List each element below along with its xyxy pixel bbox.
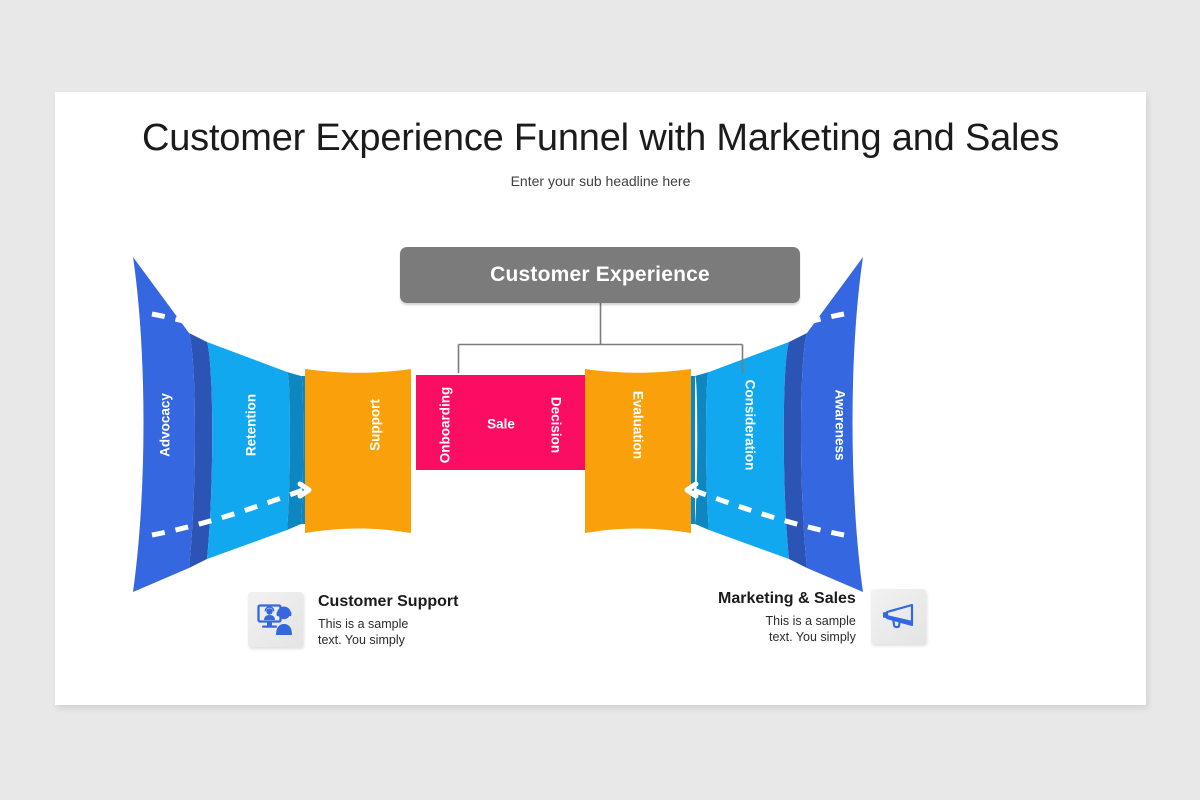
legend-item-customer-support[interactable]: Customer Support This is a sample text. … <box>248 592 458 648</box>
customer-experience-header[interactable]: Customer Experience <box>400 247 800 303</box>
megaphone-icon <box>871 589 926 644</box>
funnel-stage-advocacy[interactable] <box>133 257 212 592</box>
connector-bracket <box>459 303 743 373</box>
funnel-diagram <box>55 92 1146 705</box>
funnel-stage-consideration[interactable] <box>691 342 789 559</box>
legend-title: Marketing & Sales <box>718 589 856 609</box>
funnel-stage-support[interactable] <box>301 369 411 533</box>
funnel-stage-awareness[interactable] <box>784 257 863 592</box>
slide-canvas: Customer Experience Funnel with Marketin… <box>55 92 1146 705</box>
legend-title: Customer Support <box>318 592 458 612</box>
legend-item-marketing-sales[interactable]: Marketing & Sales This is a sample text.… <box>718 589 926 645</box>
funnel-stage-pink-block[interactable] <box>416 375 585 470</box>
funnel-stage-evaluation[interactable] <box>585 369 691 533</box>
funnel-stage-retention[interactable] <box>207 342 303 559</box>
legend-description: This is a sample text. You simply <box>766 613 856 645</box>
customer-experience-label: Customer Experience <box>490 263 710 287</box>
support-agent-icon <box>248 592 303 647</box>
legend-description: This is a sample text. You simply <box>318 616 408 648</box>
